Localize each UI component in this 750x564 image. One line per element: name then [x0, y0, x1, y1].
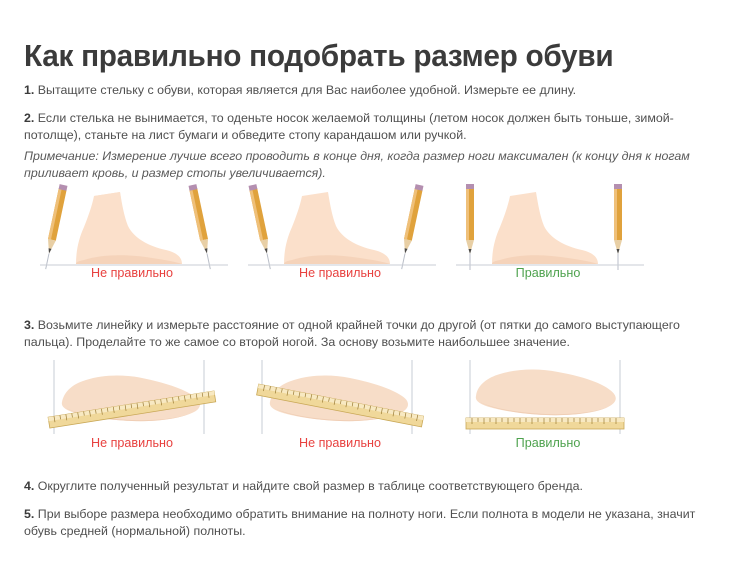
ruler-panel-1-caption: Не правильно — [32, 436, 232, 450]
shoe-size-guide-page: Как правильно подобрать размер обуви 1. … — [0, 0, 750, 564]
step-1-number: 1. — [24, 83, 34, 97]
note-paragraph: Примечание: Измерение лучше всего провод… — [24, 148, 730, 181]
pencil-panel-incorrect-2: Не правильно — [240, 180, 440, 280]
step-2-text: Если стелька не вынимается, то оденьте н… — [24, 111, 674, 142]
step-5-number: 5. — [24, 507, 34, 521]
step-2-paragraph: 2. Если стелька не вынимается, то оденьт… — [24, 110, 730, 143]
page-title: Как правильно подобрать размер обуви — [24, 37, 613, 75]
pencil-panel-incorrect-1: Не правильно — [32, 180, 232, 280]
foot-pencil-diagram-tilted-outward — [240, 180, 440, 280]
pencil-panel-2-caption: Не правильно — [240, 266, 440, 280]
pencil-panel-correct: Правильно — [448, 180, 648, 280]
ruler-panel-2-caption: Не правильно — [240, 436, 440, 450]
pencil-panel-1-caption: Не правильно — [32, 266, 232, 280]
pencil-illustration-row: Не правильно — [24, 180, 730, 280]
step-4-paragraph: 4. Округлите полученный результат и найд… — [24, 478, 730, 495]
ruler-panel-3-caption: Правильно — [448, 436, 648, 450]
foot-pencil-diagram-tilted-inward — [32, 180, 232, 280]
ruler-panel-incorrect-2: Не правильно — [240, 358, 440, 452]
step-5-text: При выборе размера необходимо обратить в… — [24, 507, 695, 538]
pencil-panel-3-caption: Правильно — [448, 266, 648, 280]
step-3-text: Возьмите линейку и измерьте расстояние о… — [24, 318, 680, 349]
step-1-paragraph: 1. Вытащите стельку с обуви, которая явл… — [24, 82, 730, 99]
step-3-number: 3. — [24, 318, 34, 332]
ruler-panel-correct: Правильно — [448, 358, 648, 452]
step-3-paragraph: 3. Возьмите линейку и измерьте расстояни… — [24, 317, 730, 350]
ruler-illustration-row: Не правильно — [24, 358, 730, 452]
step-1-text: Вытащите стельку с обуви, которая являет… — [34, 83, 576, 97]
step-4-text: Округлите полученный результат и найдите… — [34, 479, 583, 493]
foot-pencil-diagram-vertical — [448, 180, 648, 280]
step-5-paragraph: 5. При выборе размера необходимо обратит… — [24, 506, 730, 539]
step-2-number: 2. — [24, 111, 34, 125]
step-4-number: 4. — [24, 479, 34, 493]
ruler-panel-incorrect-1: Не правильно — [32, 358, 232, 452]
